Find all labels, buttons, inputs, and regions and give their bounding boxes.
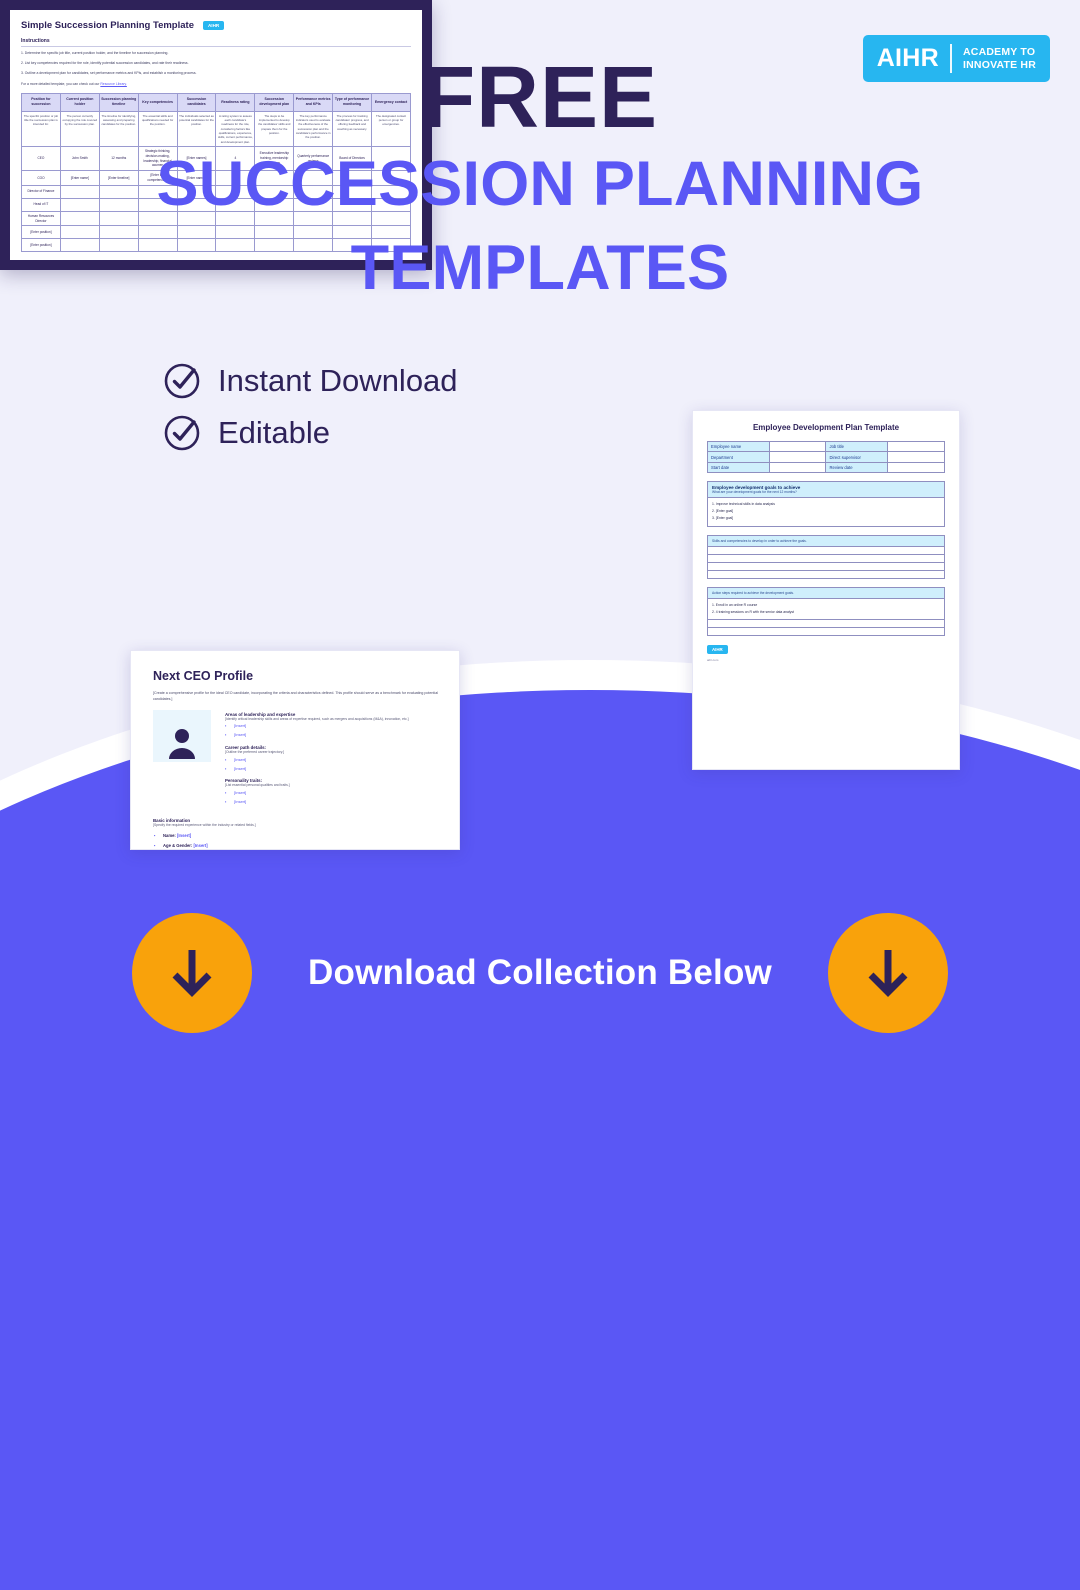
- headline-line2: SUCCESSION PLANNING: [0, 143, 1080, 226]
- edp-skills-header: Skills and competencies to develop in or…: [707, 535, 945, 547]
- edp-actions-header: Action steps required to achieve the dev…: [707, 587, 945, 599]
- ceo-right-column: Areas of leadership and expertise [Ident…: [225, 710, 443, 807]
- edp-goals-body: 1. Improve technical skills in data anal…: [707, 498, 945, 526]
- edp-blank-row[interactable]: [707, 547, 945, 555]
- table-row: Department Direct supervisor: [708, 452, 945, 462]
- edp-label: Job title: [826, 442, 888, 452]
- edp-goal-item: 2. [Enter goal]: [712, 508, 940, 515]
- headline-line3: TEMPLATES: [0, 227, 1080, 310]
- edp-label: Start date: [708, 462, 770, 472]
- list-item[interactable]: [Insert]: [225, 731, 443, 740]
- check-circle-icon: [163, 414, 201, 452]
- ceo-basic-note: [Specify the required experience within …: [153, 823, 443, 829]
- ceo-basic-information: Basic information [Specify the required …: [153, 818, 443, 850]
- download-arrow-button-right[interactable]: [828, 913, 948, 1033]
- edp-goals-subheading: What are your development goals for the …: [712, 490, 940, 494]
- ceo-basic-list: Name: [Insert] Age & Gender: [Insert] Ro…: [153, 831, 443, 850]
- edp-value[interactable]: [888, 442, 945, 452]
- edp-skills-heading: Skills and competencies to develop in or…: [712, 539, 940, 543]
- edp-blank-row[interactable]: [707, 563, 945, 571]
- field-label: Name:: [163, 833, 176, 838]
- edp-blank-row[interactable]: [707, 555, 945, 563]
- edp-title: Employee Development Plan Template: [707, 423, 945, 432]
- benefit-item: Instant Download: [163, 362, 458, 400]
- edp-blank-row[interactable]: [707, 620, 945, 628]
- benefit-label: Editable: [218, 415, 330, 451]
- edp-blank-row[interactable]: [707, 628, 945, 636]
- list-item[interactable]: Age & Gender: [Insert]: [153, 841, 443, 850]
- edp-value[interactable]: [888, 462, 945, 472]
- ceo-career-list: [Insert] [Insert]: [225, 756, 443, 774]
- down-arrow-icon: [161, 942, 223, 1004]
- list-item[interactable]: [Insert]: [225, 798, 443, 807]
- list-item[interactable]: [Insert]: [225, 722, 443, 731]
- cta-bar: Download Collection Below: [0, 908, 1080, 1038]
- logo-wordmark: AIHR: [877, 44, 939, 73]
- edp-actions-heading: Action steps required to achieve the dev…: [712, 591, 940, 595]
- logo-tagline-line2: INNOVATE HR: [963, 59, 1036, 71]
- edp-action-item: 2. 4 training sessions on R with the sen…: [712, 609, 940, 616]
- down-arrow-icon: [857, 942, 919, 1004]
- edp-label: Review date: [826, 462, 888, 472]
- download-arrow-button-left[interactable]: [132, 913, 252, 1033]
- avatar: [153, 710, 211, 762]
- edp-footer-logo: AIHR: [707, 645, 728, 654]
- list-item[interactable]: [Insert]: [225, 765, 443, 774]
- aihr-logo: AIHR ACADEMY TO INNOVATE HR: [863, 35, 1050, 82]
- ssp-title: Simple Succession Planning Template: [21, 20, 194, 31]
- edp-value[interactable]: [769, 462, 826, 472]
- edp-value[interactable]: [769, 452, 826, 462]
- document-next-ceo-profile[interactable]: Next CEO Profile [Create a comprehensive…: [130, 650, 460, 850]
- logo-divider: [950, 44, 952, 73]
- edp-goal-item: 3. [Enter goal]: [712, 515, 940, 522]
- field-value[interactable]: [Insert]: [194, 843, 208, 848]
- edp-action-item: 1. Enroll in an online R course: [712, 602, 940, 609]
- ceo-intro: [Create a comprehensive profile for the …: [153, 690, 443, 703]
- document-employee-development-plan[interactable]: Employee Development Plan Template Emplo…: [692, 410, 960, 770]
- benefits-list: Instant Download Editable: [163, 362, 458, 466]
- ssp-instructions-heading: Instructions: [21, 38, 411, 47]
- person-avatar-icon: [165, 725, 199, 759]
- edp-value[interactable]: [769, 442, 826, 452]
- edp-info-table: Employee name Job title Department Direc…: [707, 441, 945, 473]
- list-item[interactable]: [Insert]: [225, 789, 443, 798]
- list-item[interactable]: [Insert]: [225, 756, 443, 765]
- ceo-personality-list: [Insert] [Insert]: [225, 789, 443, 807]
- edp-actions-body: 1. Enroll in an online R course 2. 4 tra…: [707, 599, 945, 620]
- edp-label: Direct supervisor: [826, 452, 888, 462]
- edp-label: Department: [708, 452, 770, 462]
- ssp-header: Simple Succession Planning Template AIHR: [21, 20, 411, 31]
- cta-text: Download Collection Below: [308, 953, 772, 993]
- field-label: Age & Gender:: [163, 843, 192, 848]
- headline-block: FREE SUCCESSION PLANNING TEMPLATES: [0, 52, 1080, 310]
- field-value[interactable]: [Insert]: [177, 833, 191, 838]
- ceo-body: Areas of leadership and expertise [Ident…: [153, 710, 443, 807]
- logo-tagline-line1: ACADEMY TO: [963, 46, 1035, 58]
- table-row: Employee name Job title: [708, 442, 945, 452]
- table-row: Start date Review date: [708, 462, 945, 472]
- edp-value[interactable]: [888, 452, 945, 462]
- edp-footer-url: aihr.com: [707, 658, 945, 662]
- list-item[interactable]: Name: [Insert]: [153, 831, 443, 841]
- benefit-item: Editable: [163, 414, 458, 452]
- edp-goal-item: 1. Improve technical skills in data anal…: [712, 501, 940, 508]
- check-circle-icon: [163, 362, 201, 400]
- edp-goals-header: Employee development goals to achieve Wh…: [707, 481, 945, 498]
- benefit-label: Instant Download: [218, 363, 458, 399]
- edp-blank-row[interactable]: [707, 571, 945, 579]
- ceo-title: Next CEO Profile: [153, 669, 443, 683]
- ssp-aihr-badge: AIHR: [203, 21, 224, 30]
- edp-label: Employee name: [708, 442, 770, 452]
- ceo-leadership-list: [Insert] [Insert]: [225, 722, 443, 740]
- logo-tagline: ACADEMY TO INNOVATE HR: [963, 46, 1036, 72]
